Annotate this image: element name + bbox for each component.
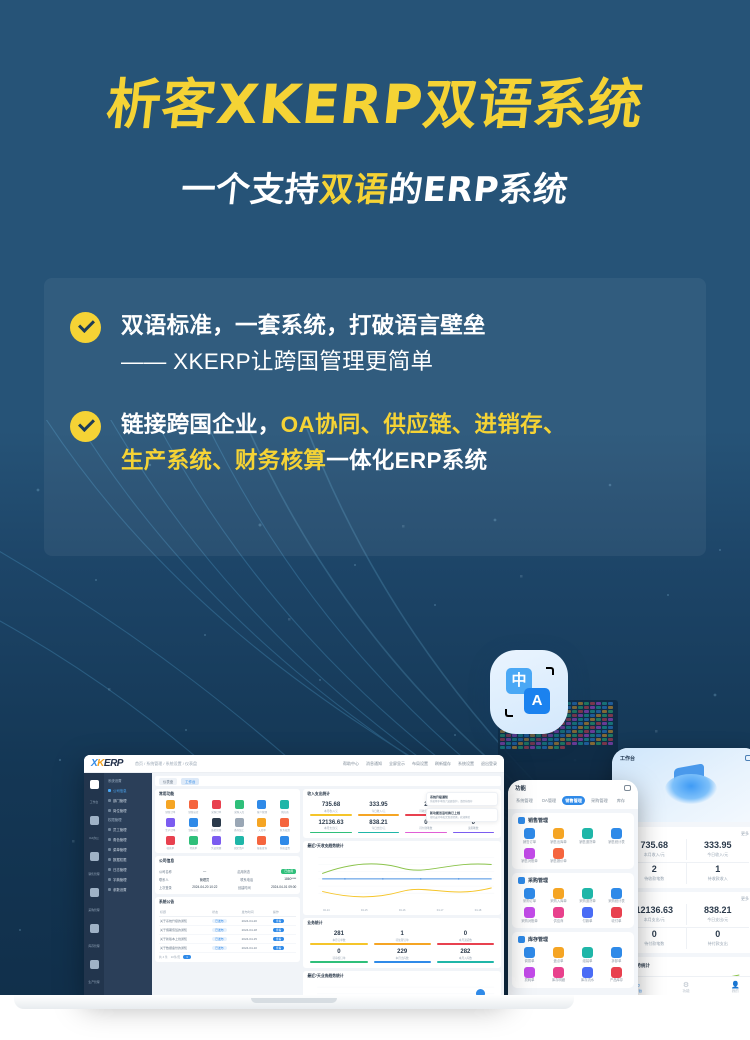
topbar-action[interactable]: 布局设置 (412, 761, 428, 767)
shortcut-label: 采购入库 (228, 810, 251, 814)
kpi-label: 待付款支出 (687, 941, 750, 947)
decorative-bit (578, 738, 583, 741)
module-item[interactable]: 采购退货单 (573, 888, 602, 904)
shortcut-item[interactable]: 客户管理 (251, 800, 274, 814)
sidebar-item-label: 工作台 (90, 800, 98, 804)
decorative-bit (566, 730, 571, 733)
decorative-bit (560, 734, 565, 737)
module-item-label: 采购入库单 (544, 900, 573, 903)
sidebar-item-inventory[interactable]: 库存管理 (84, 920, 104, 956)
submenu-item[interactable]: 员工管理 (104, 824, 152, 834)
chat-icon[interactable] (745, 755, 750, 761)
module-item[interactable]: 收付单 (602, 907, 631, 923)
shortcut-label: 生产订单 (159, 828, 182, 832)
module-item[interactable]: 销售对账单 (515, 848, 544, 864)
submenu-item[interactable]: 菜单管理 (104, 844, 152, 854)
decorative-bit (590, 714, 595, 717)
module-item-icon (582, 907, 593, 918)
shortcut-item[interactable]: 采购订单 (205, 800, 228, 814)
submenu-item[interactable]: 公司信息 (104, 785, 152, 795)
kpi-label: 本月收入/元 (310, 809, 351, 813)
decorative-bit (590, 726, 595, 729)
xkerp-logo: XKERP (91, 758, 123, 769)
popup-subtitle: 现已支持中英文双语切换，欢迎体验 (430, 815, 494, 819)
shortcut-item[interactable]: 固定资产 (228, 836, 251, 850)
info-value-2: 已启用 (281, 869, 296, 874)
income-card: 收入支出统计 系统升级通知 系统将于本周六凌晨维护，请提前保存 新功能双语切换已… (303, 789, 501, 838)
decorative-bit (590, 706, 595, 709)
shortcut-label: 销售订单 (159, 810, 182, 814)
shortcut-icon (166, 818, 175, 827)
decorative-bit (596, 714, 601, 717)
decorative-bit (608, 726, 613, 729)
kpi-value: 12136.63 (310, 820, 351, 827)
shortcut-item[interactable]: 领料出库 (182, 818, 205, 832)
tablet-tab-profile[interactable]: 👤 我的 (711, 981, 750, 994)
content-tab[interactable]: 仪表盘 (159, 778, 177, 785)
shortcut-grid: 销售订单 销售出库 采购订单 采购入库 客户管理 供应商 生产订单 领料出库 质… (159, 800, 296, 850)
decorative-bit (602, 710, 607, 713)
topbar-action[interactable]: 刷新缓存 (435, 761, 451, 767)
bullet-icon (108, 809, 111, 812)
notice-date: 2024-04-18 (241, 926, 272, 935)
decorative-bit (578, 714, 583, 717)
shortcut-item[interactable]: 报表查询 (251, 836, 274, 850)
module-item[interactable]: 销售订单 (515, 828, 544, 844)
submenu-item[interactable]: 参数设置 (104, 884, 152, 894)
phone-tab[interactable]: 库存 (614, 796, 628, 805)
shortcut-item[interactable]: 生产订单 (159, 818, 182, 832)
content-tab[interactable]: 工作台 (181, 778, 199, 785)
erp-app: XKERP 首页 / 系统管理 / 系统设置 / 仪表盘 帮助中心消息通知全屏显… (84, 755, 504, 995)
decorative-bit (560, 730, 565, 733)
feature-text-2: 链接跨国企业，OA协同、供应链、进销存、生产系统、财务核算一体化ERP系统 (121, 407, 566, 480)
card-title: 系统公告 (159, 900, 296, 905)
decorative-bit (536, 746, 541, 749)
module-item[interactable]: 组装单 (573, 947, 602, 963)
decorative-bit (590, 702, 595, 705)
shortcut-item[interactable]: 凭证管理 (205, 836, 228, 850)
kpi-label: 待审核订单 (310, 956, 367, 960)
pager-page[interactable]: 1 (183, 955, 191, 959)
decorative-bit (566, 738, 571, 741)
decorative-bit (602, 722, 607, 725)
shortcut-icon (280, 800, 289, 809)
notice-op[interactable]: 查看 (272, 926, 296, 935)
business-trend-chart (307, 982, 497, 995)
sidebar-item-label: 销售管理 (88, 872, 99, 876)
subtitle-suffix: 的ERP系统 (386, 170, 570, 210)
column-header: 状态 (211, 908, 240, 917)
table-row[interactable]: 关于数据备份的通知 已发布 2024-04-10 查看 (159, 944, 296, 953)
sidebar-item-office[interactable]: OA办公 (84, 812, 104, 848)
decorative-bit (500, 742, 505, 745)
shortcut-icon (280, 836, 289, 845)
x-axis-tick: 04-15 (361, 909, 368, 912)
hero-section: 析客XKERP双语系统 一个支持双语的ERP系统 (0, 0, 750, 211)
module-item-icon (611, 828, 622, 839)
sidebar-item-label: 采购管理 (88, 908, 99, 912)
feature-panel: 双语标准，一套系统，打破语言壁垒 —— XKERP让跨国管理更简单 链接跨国企业… (44, 278, 706, 556)
submenu-item[interactable]: 岗位管理 (104, 805, 152, 815)
table-row[interactable]: 关于系统升级的通知 已发布 2024-04-20 查看 (159, 917, 296, 926)
decorative-bit (542, 746, 547, 749)
topbar-action[interactable]: 消息通知 (366, 761, 382, 767)
chart-title: 最近7天收支趋势统计 (307, 844, 497, 849)
module-item[interactable]: 产品库存 (602, 967, 631, 983)
module-item-icon (524, 888, 535, 899)
user-icon: 👤 (711, 981, 750, 989)
more-link[interactable]: 更多 (623, 831, 749, 837)
decorative-bit (602, 726, 607, 729)
submenu-item[interactable]: 数据权限 (104, 854, 152, 864)
decorative-bit (602, 706, 607, 709)
bullet-icon (108, 858, 111, 861)
bullet-icon (108, 799, 111, 802)
kpi-label: 今日支出/元 (687, 917, 750, 923)
kpi-label: 待处理订单 (374, 938, 431, 942)
notice-title: 关于数据备份的通知 (159, 944, 211, 953)
module-item[interactable]: 盘点单 (544, 947, 573, 963)
shortcut-label: 入库单 (251, 828, 274, 832)
module-item[interactable]: 供应商 (544, 907, 573, 923)
notification-popup[interactable]: 系统升级通知 系统将于本周六凌晨维护，请提前保存 (426, 792, 498, 806)
notice-op[interactable]: 查看 (272, 935, 296, 944)
module-grid: 调拨单 盘点单 组装单 拆卸单 损耗单 库存明细 库存流水 产品库存 (515, 947, 631, 983)
decorative-bit (584, 710, 589, 713)
dashboard-columns: 常用功能 销售订单 销售出库 采购订单 采购入库 客户管理 供应商 生产订单 领… (155, 789, 501, 979)
decorative-bit (608, 702, 613, 705)
decorative-bit (584, 702, 589, 705)
kpi-cell: 281 本月订单数 (307, 929, 370, 947)
shortcut-icon (257, 836, 266, 845)
decorative-bit (578, 730, 583, 733)
phone-tab[interactable]: 采购管理 (588, 796, 611, 805)
decorative-bit (554, 734, 559, 737)
decorative-bit (566, 726, 571, 729)
module-item-icon (524, 967, 535, 978)
decorative-bit (560, 742, 565, 745)
phone-tab[interactable]: 销售管理 (562, 796, 585, 805)
module-item[interactable]: 销售退货单 (573, 828, 602, 844)
module-item[interactable]: 库存流水 (573, 967, 602, 983)
device-mockups: 工作台 更多 735.68 本月收入/元 333.95 今日收入/元 (0, 600, 750, 1040)
poster-root: 析客XKERP双语系统 一个支持双语的ERP系统 双语标准，一套系统，打破语言壁… (0, 0, 750, 1040)
sidebar-item-production[interactable]: 生产管理 (84, 956, 104, 992)
app-topbar: XKERP 首页 / 系统管理 / 系统设置 / 仪表盘 帮助中心消息通知全屏显… (84, 755, 504, 773)
notice-date: 2024-04-20 (241, 917, 272, 926)
shortcut-label: 销售出库 (182, 810, 205, 814)
decorative-bit (500, 738, 505, 741)
submenu-heading: 系统设置 (104, 776, 152, 785)
x-axis-tick: 04-14 (323, 909, 330, 912)
decorative-bit (524, 746, 529, 749)
notice-table: 标题状态发布时间操作 关于系统升级的通知 已发布 2024-04-20 查看 关… (159, 908, 296, 953)
kpi-value: 838.21 (358, 820, 399, 827)
submenu-item[interactable]: 字典管理 (104, 874, 152, 884)
shortcut-item[interactable]: 财务核算 (273, 818, 296, 832)
shortcut-item[interactable]: 销售订单 (159, 800, 182, 814)
shortcut-item[interactable]: 收款单 (159, 836, 182, 850)
apps-icon: ⚙ (661, 981, 710, 989)
sidebar-submenu: 系统设置公司信息部门管理岗位管理权限管理员工管理角色管理菜单管理数据权限日志管理… (104, 773, 152, 995)
laptop-base (14, 995, 574, 1009)
page-title: 析客XKERP双语系统 (0, 78, 750, 132)
decorative-bit (578, 734, 583, 737)
submenu-heading: 权限管理 (104, 815, 152, 824)
decorative-bit (572, 722, 577, 725)
decorative-bit (572, 734, 577, 737)
notice-date: 2024-04-10 (241, 944, 272, 953)
module-item[interactable]: 损耗单 (515, 967, 544, 983)
notice-title: 关于系统升级的通知 (159, 917, 211, 926)
decorative-bit (554, 742, 559, 745)
decorative-bit (584, 734, 589, 737)
sidebar-item-dashboard[interactable]: 工作台 (84, 776, 104, 812)
shortcut-item[interactable]: 质检管理 (205, 818, 228, 832)
module-item[interactable]: 销售统计表 (602, 828, 631, 844)
tablet-kpi: 333.95 今日收入/元 (686, 839, 750, 860)
kpi-bar (437, 943, 494, 945)
notice-status: 已发布 (211, 917, 240, 926)
decorative-bit (572, 702, 577, 705)
phone-tab[interactable]: OA管理 (539, 796, 559, 805)
kpi-label: 今日收入/元 (687, 852, 750, 858)
decorative-bit (584, 742, 589, 745)
kpi-value: 735.68 (310, 802, 351, 809)
decorative-bit (596, 722, 601, 725)
laptop-mockup: XKERP 首页 / 系统管理 / 系统设置 / 仪表盘 帮助中心消息通知全屏显… (84, 755, 504, 1009)
module-item-icon (524, 947, 535, 958)
tag-bar: 仪表盘工作台 (155, 776, 501, 786)
shortcut-item[interactable]: 采购入库 (228, 800, 251, 814)
kpi-bar (310, 832, 351, 834)
bullet-icon (108, 878, 111, 881)
shortcut-item[interactable]: 委外加工 (228, 818, 251, 832)
decorative-bit (554, 746, 559, 749)
info-key-2: 创建时间 (238, 885, 251, 890)
shortcut-icon (166, 800, 175, 809)
shortcut-item[interactable]: 销售出库 (182, 800, 205, 814)
notice-status: 已发布 (211, 944, 240, 953)
decorative-bit (578, 702, 583, 705)
decorative-bit (578, 726, 583, 729)
topbar-action[interactable]: 系统设置 (458, 761, 474, 767)
sidebar-item-sales[interactable]: 销售管理 (84, 848, 104, 884)
shortcut-icon (166, 836, 175, 845)
shortcut-item[interactable]: 付款单 (182, 836, 205, 850)
kpi-value: 333.95 (358, 802, 399, 809)
kpi-bar (437, 961, 494, 963)
shortcut-icon (257, 800, 266, 809)
bullet-icon (108, 848, 111, 851)
decorative-bit (608, 742, 613, 745)
card-title: 常用功能 (159, 792, 296, 797)
decorative-bit (596, 710, 601, 713)
decorative-bit (596, 742, 601, 745)
decorative-bit (500, 746, 505, 749)
kpi-value: 838.21 (687, 906, 750, 916)
bullet-icon (108, 789, 111, 792)
shortcut-icon (212, 818, 221, 827)
chat-icon[interactable] (624, 785, 631, 791)
shortcut-label: 财务核算 (273, 828, 296, 832)
shortcut-item[interactable]: 入库单 (251, 818, 274, 832)
kpi-bar (358, 832, 399, 834)
service-icon[interactable] (476, 989, 485, 995)
bullet-icon (108, 888, 111, 891)
kpi-bar (405, 832, 446, 834)
shortcut-label: 委外加工 (228, 828, 251, 832)
module-item[interactable]: 调拨单 (515, 947, 544, 963)
notification-popup[interactable]: 新功能双语切换已上线 现已支持中英文双语切换，欢迎体验 (426, 808, 498, 822)
module-card: 采购管理 采购订单 采购入库单 采购退货单 采购统计表 采购对账单 供应商 付款… (512, 873, 634, 929)
submenu-item[interactable]: 部门管理 (104, 795, 152, 805)
info-key-2: 启用状态 (237, 869, 250, 874)
decorative-bit (542, 738, 547, 741)
shortcut-label: 固定资产 (228, 846, 251, 850)
tablet-expense-row-1: 12136.63 本月支出/元 838.21 今日支出/元 (623, 904, 749, 925)
decorative-bit (596, 730, 601, 733)
shortcut-item[interactable]: 供应商 (273, 800, 296, 814)
module-item-icon (611, 967, 622, 978)
corner-bracket-icon (505, 709, 513, 717)
module-item-icon (582, 888, 593, 899)
module-item[interactable]: 付款单 (573, 907, 602, 923)
decorative-bit (608, 730, 613, 733)
business-card: 业务统计 281 本月订单数 1 待处理订单 0 本月退货数 0 待审核订单 2… (303, 918, 501, 967)
module-item[interactable]: 采购订单 (515, 888, 544, 904)
topbar-action[interactable]: 全屏显示 (389, 761, 405, 767)
info-value: 管理员 (200, 877, 210, 882)
notice-op[interactable]: 查看 (272, 917, 296, 926)
submenu-item[interactable]: 角色管理 (104, 834, 152, 844)
tab-label: 我的 (711, 989, 750, 994)
company-info-card: 公司信息 公司名称 — 启用状态 已启用 联系人 管理员 联系电话 1860**… (155, 856, 300, 894)
decorative-bit (590, 722, 595, 725)
sidebar-rail: 工作台 OA办公 销售管理 采购管理 库存管理 生产管理 财务管理 客户管理 报… (84, 773, 104, 995)
shortcut-icon (235, 836, 244, 845)
decorative-bit (524, 738, 529, 741)
decorative-bit (548, 734, 553, 737)
column-header: 发布时间 (241, 908, 272, 917)
decorative-bit (596, 718, 601, 721)
info-key: 联系人 (159, 877, 169, 882)
decorative-bit (608, 718, 613, 721)
shortcut-label: 系统设置 (273, 846, 296, 850)
sidebar-item-label: 生产管理 (88, 980, 99, 984)
shortcut-label: 报表查询 (251, 846, 274, 850)
module-item[interactable]: 销售报价单 (544, 848, 573, 864)
dashboard-icon (90, 780, 99, 789)
chart-title: 最近7天业务趋势统计 (307, 974, 497, 979)
module-item[interactable]: 拆卸单 (602, 947, 631, 963)
decorative-bit (566, 722, 571, 725)
table-row[interactable]: 关于假期值班的通知 已发布 2024-04-18 查看 (159, 926, 296, 935)
topbar-action[interactable]: 退出登录 (481, 761, 497, 767)
laptop-screen: XKERP 首页 / 系统管理 / 系统设置 / 仪表盘 帮助中心消息通知全屏显… (84, 755, 504, 995)
decorative-bit (500, 734, 505, 737)
module-item-icon (524, 907, 535, 918)
module-item-icon (611, 947, 622, 958)
shortcut-icon (189, 818, 198, 827)
module-item[interactable]: 采购统计表 (602, 888, 631, 904)
shortcut-icon (257, 818, 266, 827)
decorative-bit (584, 714, 589, 717)
module-item-icon (582, 947, 593, 958)
decorative-bit (596, 734, 601, 737)
module-item-icon (611, 907, 622, 918)
decorative-bit (584, 718, 589, 721)
decorative-bit (518, 738, 523, 741)
decorative-bit (590, 718, 595, 721)
decorative-bit (608, 714, 613, 717)
info-key: 公司名称 (159, 869, 172, 874)
pager-size[interactable]: 10条/页 (171, 955, 180, 959)
module-name: 销售管理 (528, 817, 548, 824)
module-item[interactable]: 采购入库单 (544, 888, 573, 904)
module-card: 库存管理 调拨单 盘点单 组装单 拆卸单 损耗单 库存明细 库存流水 产品库存 (512, 932, 634, 988)
decorative-bit (608, 706, 613, 709)
info-row: 联系人 管理员 联系电话 1860**** (159, 875, 296, 883)
tablet-tab-apps[interactable]: ⚙ 功能 (661, 981, 710, 994)
tablet-expense-row-2: 0 待付款笔数 0 待付款支出 (623, 927, 749, 949)
shortcut-icon (280, 818, 289, 827)
kpi-bar (358, 814, 399, 816)
module-item[interactable]: 库存明细 (544, 967, 573, 983)
shortcut-label: 客户管理 (251, 810, 274, 814)
module-item-icon (582, 967, 593, 978)
notice-op[interactable]: 查看 (272, 944, 296, 953)
decorative-bit (524, 742, 529, 745)
module-item-label: 销售退货单 (573, 841, 602, 844)
info-key: 上次登录 (159, 885, 172, 890)
table-row[interactable]: 关于新版本上线通知 已发布 2024-04-15 查看 (159, 935, 296, 944)
decorative-bit (506, 746, 511, 749)
notice-status: 已发布 (211, 926, 240, 935)
decorative-bit (560, 746, 565, 749)
trend-chart-card: 最近7天收支趋势统计 (303, 841, 501, 915)
module-item-label: 付款单 (573, 920, 602, 923)
decorative-bit (560, 726, 565, 729)
decorative-bit (584, 730, 589, 733)
kpi-value: 0 (687, 930, 750, 940)
phone-tabs: 系统管理OA管理销售管理采购管理库存 (508, 796, 638, 809)
decorative-bit (602, 742, 607, 745)
decorative-bit (554, 738, 559, 741)
module-header: 销售管理 (518, 817, 631, 824)
kpi-cell: 0 本月退货数 (434, 929, 497, 947)
shortcut-item[interactable]: 系统设置 (273, 836, 296, 850)
decorative-bit (536, 734, 541, 737)
kpi-bar (310, 814, 351, 816)
submenu-item[interactable]: 日志管理 (104, 864, 152, 874)
decorative-bit (548, 738, 553, 741)
module-item[interactable]: 采购对账单 (515, 907, 544, 923)
topbar-action[interactable]: 帮助中心 (343, 761, 359, 767)
decorative-bit (590, 734, 595, 737)
module-item-icon (524, 848, 535, 859)
module-item-label: 产品库存 (602, 979, 631, 982)
sidebar-item-purchase[interactable]: 采购管理 (84, 884, 104, 920)
module-item[interactable]: 销售出库单 (544, 828, 573, 844)
more-link[interactable]: 更多 (623, 896, 749, 902)
tablet-income-row-1: 735.68 本月收入/元 333.95 今日收入/元 (623, 839, 749, 860)
phone-tab[interactable]: 系统管理 (513, 796, 536, 805)
inventory-icon (518, 936, 525, 943)
decorative-bit (548, 746, 553, 749)
decorative-bit (542, 742, 547, 745)
